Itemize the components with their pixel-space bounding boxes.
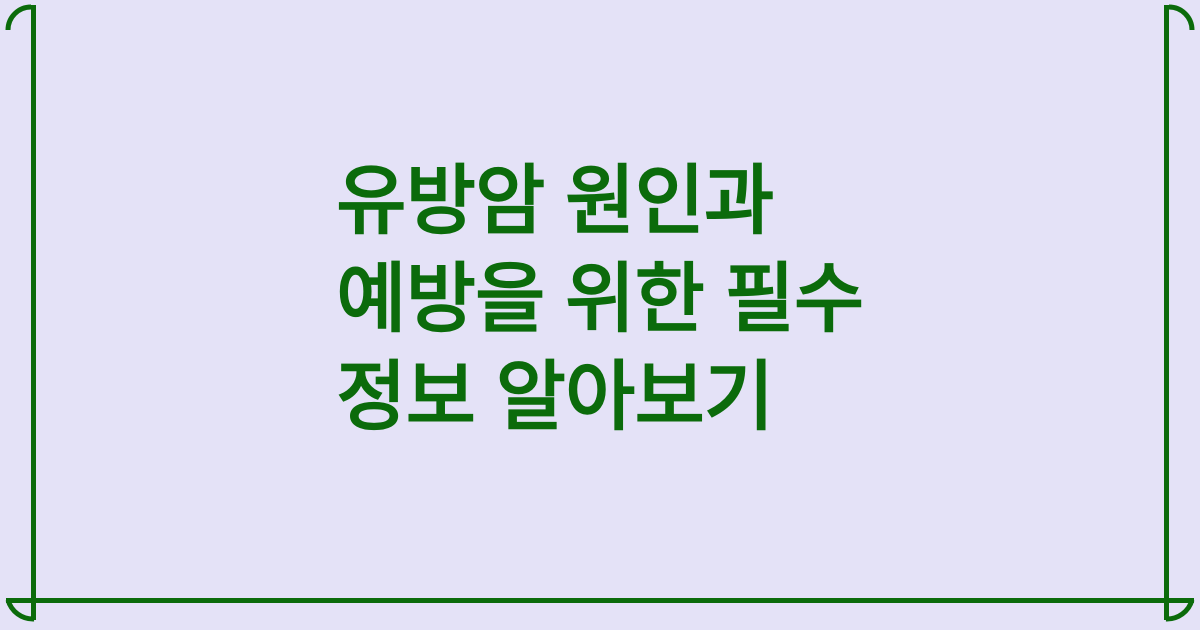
title-block: 유방암 원인과 예방을 위한 필수 정보 알아보기 (0, 0, 1200, 630)
page-title: 유방암 원인과 예방을 위한 필수 정보 알아보기 (336, 153, 863, 447)
thumbnail-card: 유방암 원인과 예방을 위한 필수 정보 알아보기 (0, 0, 1200, 630)
